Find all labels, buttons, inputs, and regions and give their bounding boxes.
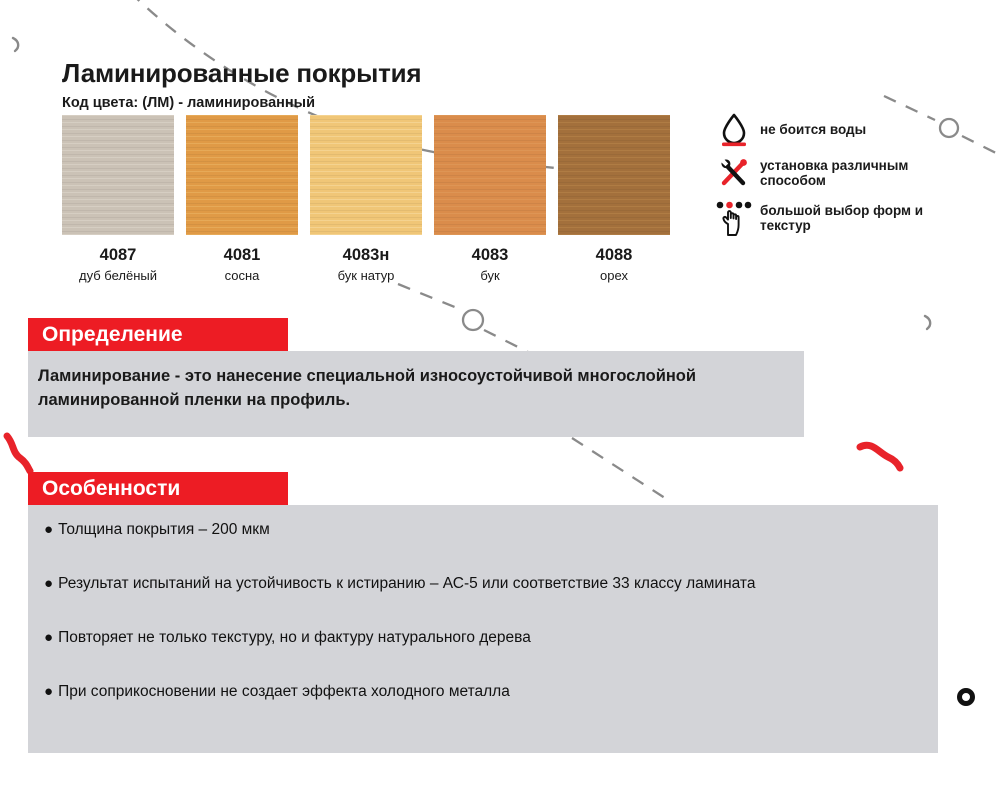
feature-item-install: установка различным способом [714, 156, 964, 190]
wood-swatch-icon[interactable] [558, 115, 670, 235]
swatch-name: бук [434, 268, 546, 283]
characteristics-heading: Особенности [28, 472, 288, 505]
list-item-text: Повторяет не только текстуру, но и факту… [58, 626, 914, 650]
swatch-item[interactable]: 4083н бук натур [310, 115, 422, 283]
list-item: ● Толщина покрытия – 200 мкм [44, 518, 914, 542]
feature-label: большой выбор форм и текстур [754, 203, 964, 233]
swatch-name: сосна [186, 268, 298, 283]
list-item: ● Результат испытаний на устойчивость к … [44, 572, 914, 596]
swatch-code: 4081 [186, 246, 298, 265]
swatch-item[interactable]: 4087 дуб белёный [62, 115, 174, 283]
swatch-item[interactable]: 4083 бук [434, 115, 546, 283]
swatch-item[interactable]: 4081 сосна [186, 115, 298, 283]
list-item-text: При соприкосновении не создает эффекта х… [58, 680, 914, 704]
ring-marker-bottom-right [960, 691, 973, 704]
red-squiggle-left [7, 436, 30, 471]
color-swatch-row: 4087 дуб белёный 4081 сосна 4083н бук на… [62, 115, 670, 283]
list-item-text: Результат испытаний на устойчивость к ис… [58, 572, 914, 596]
water-drop-icon [714, 113, 754, 147]
wood-swatch-icon[interactable] [62, 115, 174, 235]
feature-label: установка различным способом [754, 158, 964, 188]
page-header: Ламинированные покрытия Код цвета: (ЛМ) … [62, 58, 421, 111]
definition-text: Ламинирование - это нанесение специально… [38, 364, 758, 413]
definition-heading: Определение [28, 318, 288, 351]
page-subtitle: Код цвета: (ЛМ) - ламинированный [62, 95, 421, 111]
swatch-code: 4083н [310, 246, 422, 265]
dash-node-middle [463, 310, 483, 330]
swatch-item[interactable]: 4088 орех [558, 115, 670, 283]
bullet-marker: ● [44, 518, 53, 541]
wood-swatch-icon[interactable] [186, 115, 298, 235]
bullet-marker: ● [44, 626, 53, 649]
feature-item-variety: большой выбор форм и текстур [714, 199, 964, 237]
swatch-code: 4088 [558, 246, 670, 265]
infographic-page: Ламинированные покрытия Код цвета: (ЛМ) … [0, 0, 1000, 800]
wrench-screwdriver-icon [714, 157, 754, 189]
dashed-line-lower [572, 438, 668, 500]
list-item: ● При соприкосновении не создает эффекта… [44, 680, 914, 704]
feature-item-water: не боится воды [714, 113, 964, 147]
swatch-name: орех [558, 268, 670, 283]
list-item-text: Толщина покрытия – 200 мкм [58, 518, 914, 542]
characteristics-bullet-list: ● Толщина покрытия – 200 мкм ● Результат… [44, 518, 914, 734]
swatch-code: 4087 [62, 246, 174, 265]
swatch-code: 4083 [434, 246, 546, 265]
list-item: ● Повторяет не только текстуру, но и фак… [44, 626, 914, 650]
wood-swatch-icon[interactable] [310, 115, 422, 235]
tick-mark-top-left [13, 38, 18, 51]
dashed-line-middle-2 [484, 330, 528, 352]
wood-swatch-icon[interactable] [434, 115, 546, 235]
swatch-name: бук натур [310, 268, 422, 283]
dashed-line-middle [398, 284, 462, 310]
red-squiggle-right [860, 445, 900, 468]
bullet-marker: ● [44, 680, 53, 703]
swatch-name: дуб белёный [62, 268, 174, 283]
pointing-hand-icon [714, 199, 754, 237]
feature-label: не боится воды [754, 122, 866, 137]
tick-mark-mid-right [925, 316, 930, 329]
feature-list: не боится воды установка различным спосо… [714, 113, 964, 246]
page-title: Ламинированные покрытия [62, 58, 421, 89]
dashed-line-upper-right-2 [962, 136, 1000, 158]
bullet-marker: ● [44, 572, 53, 595]
